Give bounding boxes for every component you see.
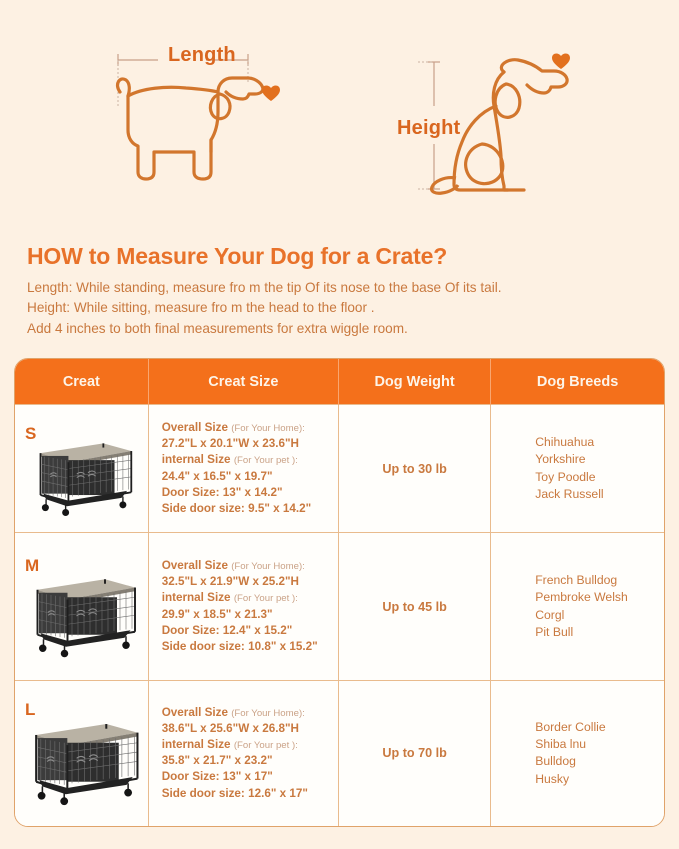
column-header-crate-size: Creat Size: [148, 359, 338, 405]
measurement-illustrations: Length: [0, 0, 679, 232]
crate-image-cell-m: M: [15, 533, 148, 681]
overall-size-value: 32.5"L x 21.9"W x 25.2"H: [162, 575, 299, 588]
internal-size-label: internal Size: [162, 591, 231, 604]
internal-size-value: 29.9" x 18.5" x 21.3": [162, 608, 273, 621]
dog-weight-cell-s: Up to 30 lb: [338, 405, 490, 533]
internal-size-note: (For Your pet ):: [234, 593, 298, 604]
instruction-line-height: Height: While sitting, measure fro m the…: [27, 298, 667, 318]
list-item: Shiba lnu: [535, 736, 664, 753]
crate-illustration: [25, 428, 137, 516]
list-item: Pembroke Welsh: [535, 589, 664, 606]
column-header-crate: Creat: [15, 359, 148, 405]
list-item: Pit Bull: [535, 624, 664, 641]
measure-instructions: HOW to Measure Your Dog for a Crate? Len…: [27, 244, 667, 339]
height-label: Height: [397, 117, 460, 140]
side-door-size-value: Side door size: 10.8" x 15.2": [162, 640, 318, 653]
internal-size-value: 35.8" x 21.7" x 23.2": [162, 754, 273, 767]
table-row: M: [15, 533, 664, 681]
crate-illustration: [21, 560, 141, 660]
overall-size-value: 38.6"L x 25.6"W x 26.8"H: [162, 722, 299, 735]
dog-breeds-cell-l: Border Collie Shiba lnu Bulldog Husky: [491, 681, 664, 826]
door-size-value: Door Size: 13" x 14.2": [162, 486, 283, 499]
table-header-row: Creat Creat Size Dog Weight Dog Breeds: [15, 359, 664, 405]
list-item: Bulldog: [535, 753, 664, 770]
overall-size-label: Overall Size: [162, 421, 228, 434]
instruction-lines: Length: While standing, measure fro m th…: [27, 278, 667, 338]
list-item: Border Collie: [535, 719, 664, 736]
overall-size-note: (For Your Home):: [231, 708, 305, 719]
overall-size-label: Overall Size: [162, 706, 228, 719]
door-size-value: Door Size: 13" x 17": [162, 770, 273, 783]
size-spec-list: Overall Size (For Your Home): 27.2"L x 2…: [149, 414, 338, 523]
size-spec-list: Overall Size (For Your Home): 32.5"L x 2…: [149, 552, 338, 661]
internal-size-note: (For Your pet ):: [234, 740, 298, 751]
overall-size-value: 27.2"L x 20.1"W x 23.6"H: [162, 437, 299, 450]
size-letter-s: S: [25, 424, 36, 444]
overall-size-note: (For Your Home):: [231, 561, 305, 572]
crate-image-cell-s: S: [15, 405, 148, 533]
internal-size-label: internal Size: [162, 453, 231, 466]
table-row: L: [15, 681, 664, 826]
size-letter-m: M: [25, 556, 39, 576]
heart-icon: [552, 54, 570, 69]
overall-size-note: (For Your Home):: [231, 423, 305, 434]
instruction-line-wiggle: Add 4 inches to both final measurements …: [27, 319, 667, 339]
internal-size-value: 24.4" x 16.5" x 19.7": [162, 470, 273, 483]
size-spec-list: Overall Size (For Your Home): 38.6"L x 2…: [149, 699, 338, 808]
list-item: Yorkshire: [535, 451, 664, 468]
dog-weight-cell-l: Up to 70 lb: [338, 681, 490, 826]
list-item: French Bulldog: [535, 572, 664, 589]
crate-image-cell-l: L: [15, 681, 148, 826]
side-door-size-value: Side door size: 12.6" x 17": [162, 787, 308, 800]
instruction-line-length: Length: While standing, measure fro m th…: [27, 278, 667, 298]
list-item: Chihuahua: [535, 434, 664, 451]
internal-size-label: internal Size: [162, 738, 231, 751]
table-row: S: [15, 405, 664, 533]
crate-size-table: Creat Creat Size Dog Weight Dog Breeds S: [14, 358, 665, 827]
dog-breeds-cell-s: Chihuahua Yorkshire Toy Poodle Jack Russ…: [491, 405, 664, 533]
crate-illustration: [19, 704, 144, 808]
length-label: Length: [168, 44, 236, 67]
breed-list: Border Collie Shiba lnu Bulldog Husky: [491, 719, 664, 788]
list-item: Toy Poodle: [535, 469, 664, 486]
heart-icon: [262, 86, 280, 101]
breed-list: French Bulldog Pembroke Welsh Corgl Pit …: [491, 572, 664, 641]
list-item: Husky: [535, 771, 664, 788]
column-header-dog-breeds: Dog Breeds: [491, 359, 664, 405]
breed-list: Chihuahua Yorkshire Toy Poodle Jack Russ…: [491, 434, 664, 503]
crate-size-cell-l: Overall Size (For Your Home): 38.6"L x 2…: [148, 681, 338, 826]
door-size-value: Door Size: 12.4" x 15.2": [162, 624, 293, 637]
column-header-dog-weight: Dog Weight: [338, 359, 490, 405]
list-item: Jack Russell: [535, 486, 664, 503]
crate-size-cell-s: Overall Size (For Your Home): 27.2"L x 2…: [148, 405, 338, 533]
list-item: Corgl: [535, 607, 664, 624]
page-title: HOW to Measure Your Dog for a Crate?: [27, 244, 667, 269]
overall-size-label: Overall Size: [162, 559, 228, 572]
dog-weight-cell-m: Up to 45 lb: [338, 533, 490, 681]
dog-breeds-cell-m: French Bulldog Pembroke Welsh Corgl Pit …: [491, 533, 664, 681]
crate-size-cell-m: Overall Size (For Your Home): 32.5"L x 2…: [148, 533, 338, 681]
internal-size-note: (For Your pet ):: [234, 455, 298, 466]
size-letter-l: L: [25, 700, 35, 720]
side-door-size-value: Side door size: 9.5" x 14.2": [162, 502, 311, 515]
